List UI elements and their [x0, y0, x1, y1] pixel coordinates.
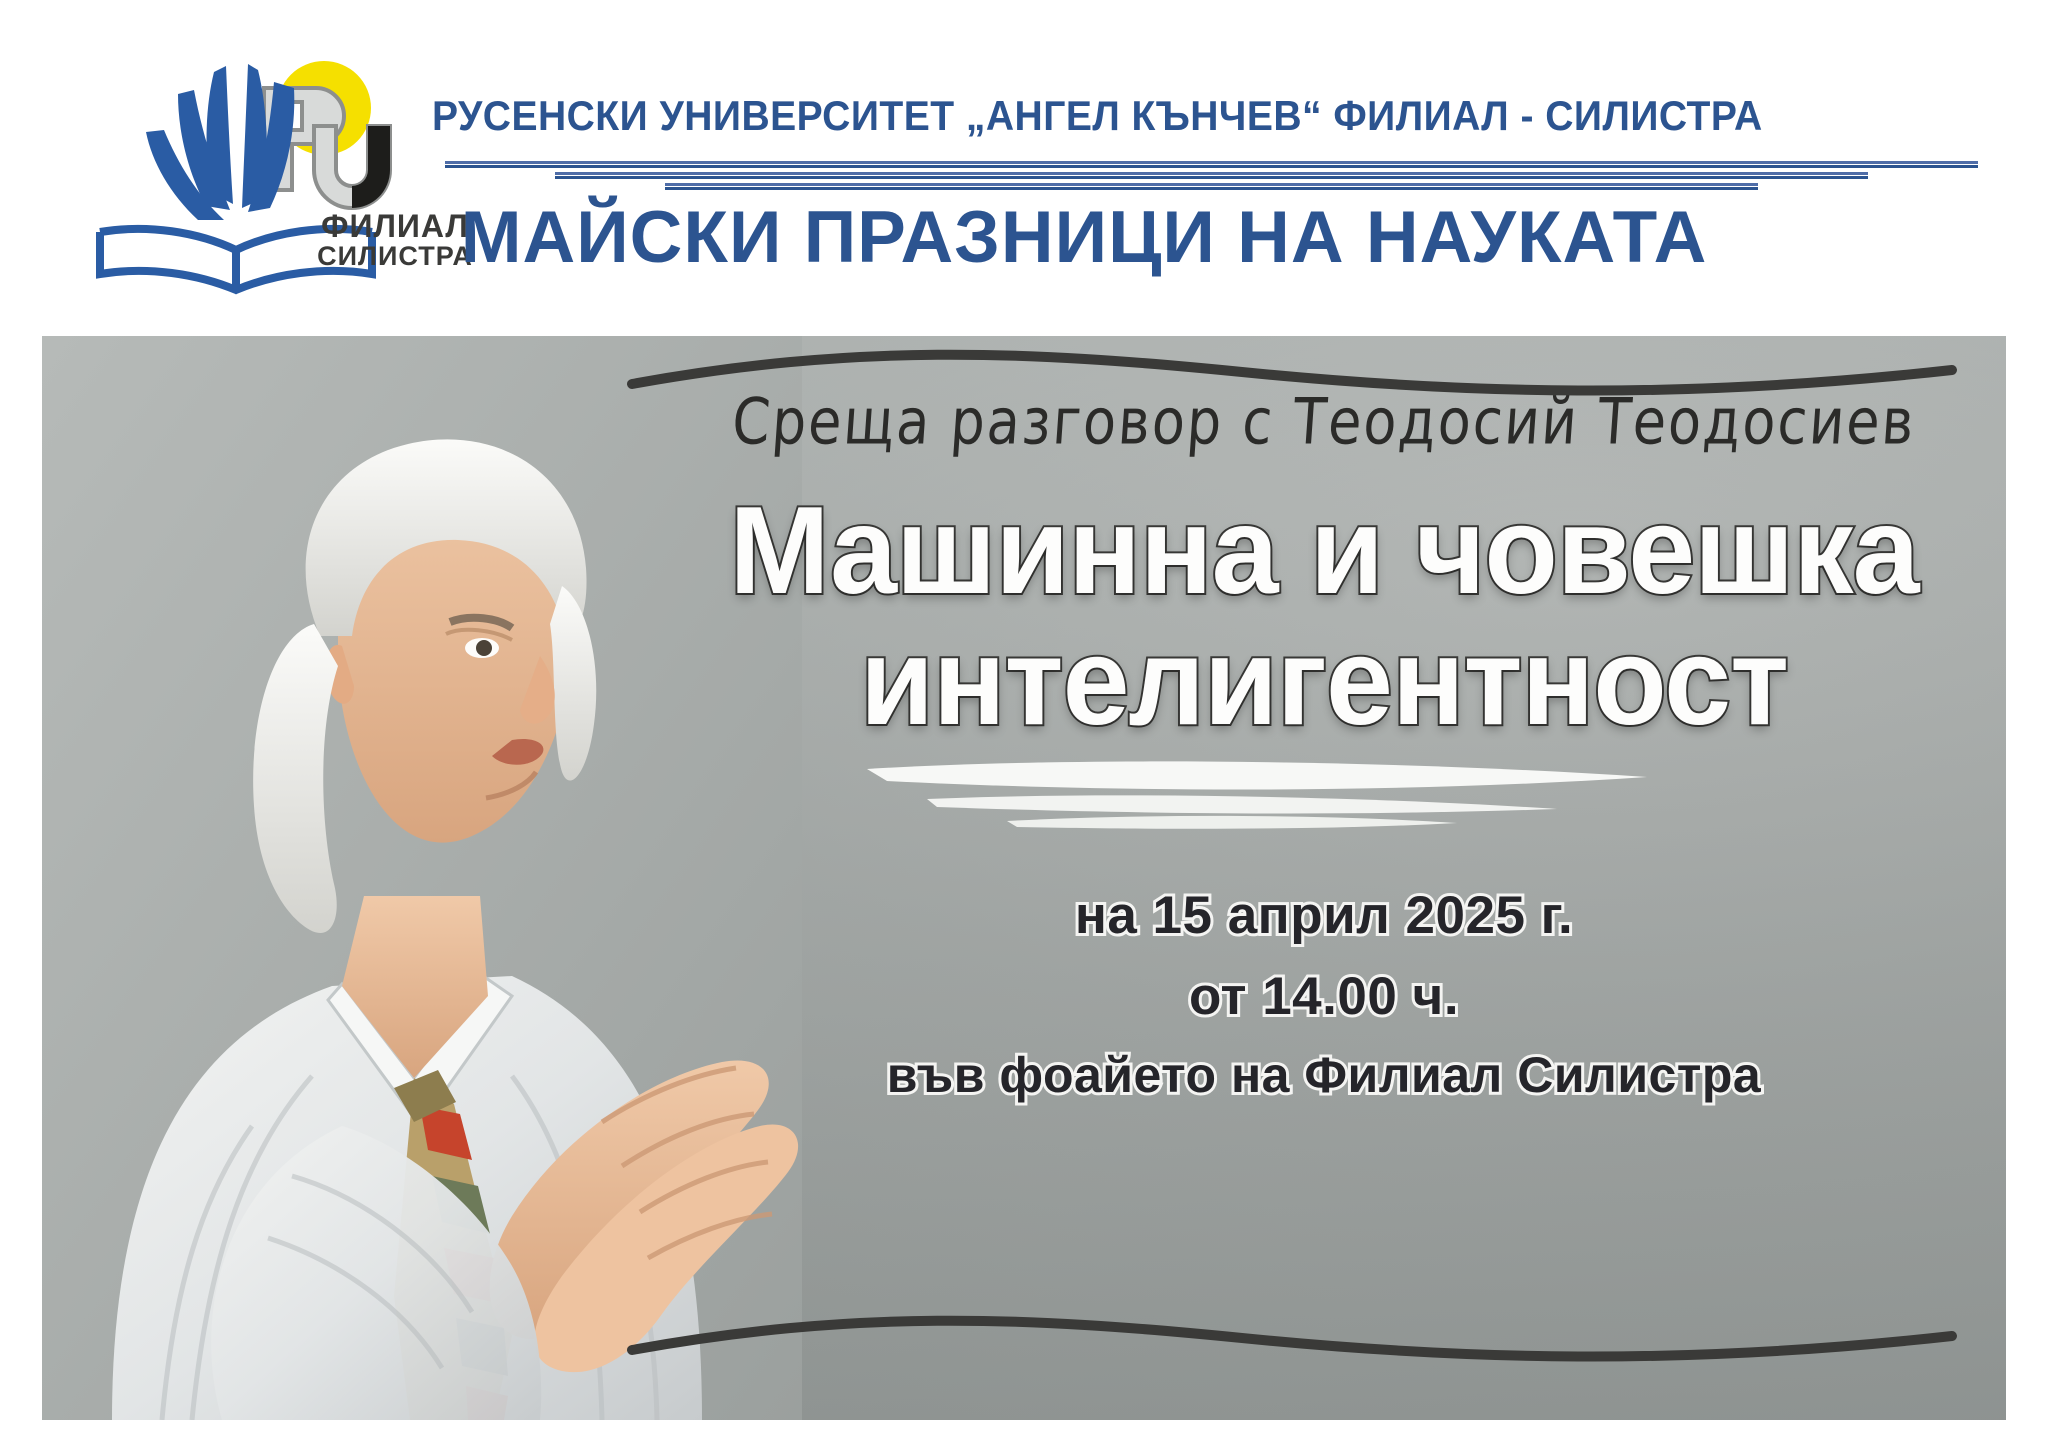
header-rule-1	[445, 161, 1978, 169]
poster-details: на 15 април 2025 г. от 14.00 ч. във фоай…	[642, 876, 2006, 1113]
poster-title-line-1: Машинна и човешка	[662, 486, 1985, 617]
header-rule-2	[555, 172, 1868, 180]
poster-title: Машинна и човешка интелигентност	[642, 486, 2006, 749]
poster-body: Среща разговор с Теодосий Теодосиев Маши…	[42, 336, 2006, 1420]
brush-underline-stroke	[857, 751, 1657, 841]
poster-kicker: Среща разговор с Теодосий Теодосиев	[639, 384, 2006, 458]
wavy-divider-line	[602, 1286, 1982, 1406]
poster-header: ФИЛИАЛ СИЛИСТРА РУСЕНСКИ УНИВЕРСИТЕТ „АН…	[0, 0, 2048, 336]
header-rule-3	[665, 183, 1758, 191]
poster-detail-date: на 15 април 2025 г.	[642, 876, 2006, 957]
festival-title: МАЙСКИ ПРАЗНИЦИ НА НАУКАТА	[0, 196, 2048, 279]
poster-title-line-2: интелигентност	[662, 617, 1985, 748]
poster-detail-place: във фоайето на Филиал Силистра	[642, 1037, 2006, 1113]
university-name: РУСЕНСКИ УНИВЕРСИТЕТ „АНГЕЛ КЪНЧЕВ“ ФИЛИ…	[432, 92, 1892, 140]
poster-content: Среща разговор с Теодосий Теодосиев Маши…	[642, 336, 2006, 1420]
poster-detail-time: от 14.00 ч.	[642, 957, 2006, 1038]
